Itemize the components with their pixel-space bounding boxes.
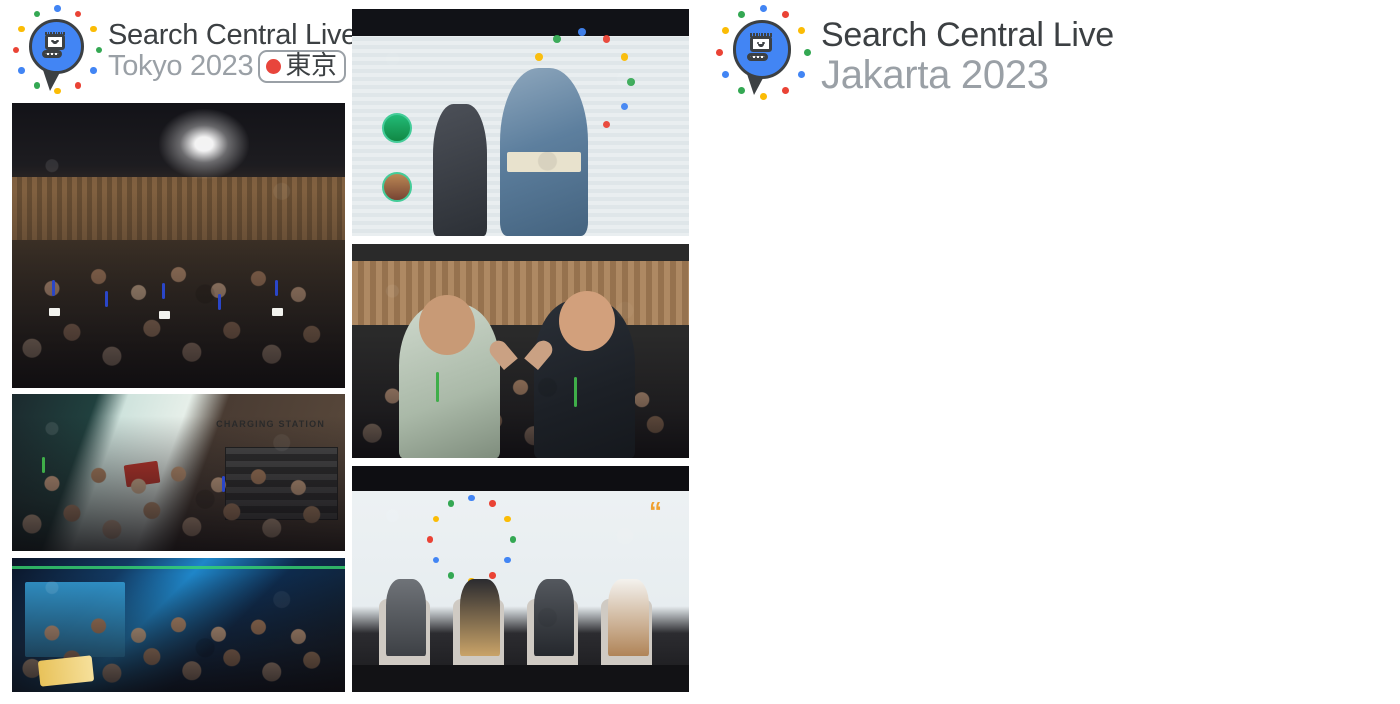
photo-tokyo-yukata-stage: [352, 9, 689, 236]
japan-flag-dot-icon: [266, 59, 281, 74]
mascot-accent-dot-icon: [782, 11, 789, 18]
mascot-accent-dot-icon: [722, 71, 729, 78]
event-section-jakarta: Search Central Live Jakarta 2023: [710, 0, 1400, 704]
mascot-accent-dot-icon: [798, 71, 805, 78]
event-header-tokyo: Search Central Live Tokyo 2023 東京: [12, 8, 357, 100]
mascot-accent-dot-icon: [34, 82, 40, 88]
mascot-accent-dot-icon: [760, 93, 767, 100]
mascot-accent-dot-icon: [75, 11, 81, 17]
search-central-mascot-icon: [715, 8, 813, 106]
mascot-accent-dot-icon: [90, 26, 96, 32]
mascot-accent-dot-icon: [34, 11, 40, 17]
event-title-main: Search Central Live: [108, 20, 357, 50]
mascot-accent-dot-icon: [760, 5, 767, 12]
event-title-sub-text: Tokyo 2023: [108, 51, 253, 82]
event-section-tokyo: Search Central Live Tokyo 2023 東京: [0, 0, 697, 704]
mascot-accent-dot-icon: [90, 67, 96, 73]
event-title-sub: Jakarta 2023: [821, 54, 1114, 97]
mascot-accent-dot-icon: [96, 47, 102, 53]
mascot-accent-dot-icon: [75, 82, 81, 88]
mascot-accent-dot-icon: [13, 47, 19, 53]
event-title-sub: Tokyo 2023 東京: [108, 50, 357, 83]
photo-tokyo-heart-hands: [352, 244, 689, 458]
mascot-accent-dot-icon: [54, 5, 60, 11]
mascot-accent-dot-icon: [54, 88, 60, 94]
tokyo-jp-badge: 東京: [258, 50, 345, 83]
event-header-jakarta: Search Central Live Jakarta 2023: [715, 8, 1114, 106]
mascot-accent-dot-icon: [722, 27, 729, 34]
event-title-main: Search Central Live: [821, 18, 1114, 54]
mascot-accent-dot-icon: [782, 87, 789, 94]
photo-tokyo-charging-station: CHARGING STATION: [12, 394, 345, 551]
mascot-accent-dot-icon: [798, 27, 805, 34]
photo-tokyo-audience-group: [12, 103, 345, 388]
mascot-accent-dot-icon: [716, 49, 723, 56]
tokyo-jp-badge-text: 東京: [285, 53, 336, 79]
mascot-accent-dot-icon: [804, 49, 811, 56]
mascot-accent-dot-icon: [18, 26, 24, 32]
collage-canvas: Search Central Live Tokyo 2023 東京: [0, 0, 1400, 704]
photo-tokyo-panel-discussion: “: [352, 466, 689, 692]
photo-tokyo-networking-drinks: [12, 558, 345, 692]
search-central-mascot-icon: [12, 8, 104, 100]
mascot-accent-dot-icon: [18, 67, 24, 73]
mascot-accent-dot-icon: [738, 11, 745, 18]
